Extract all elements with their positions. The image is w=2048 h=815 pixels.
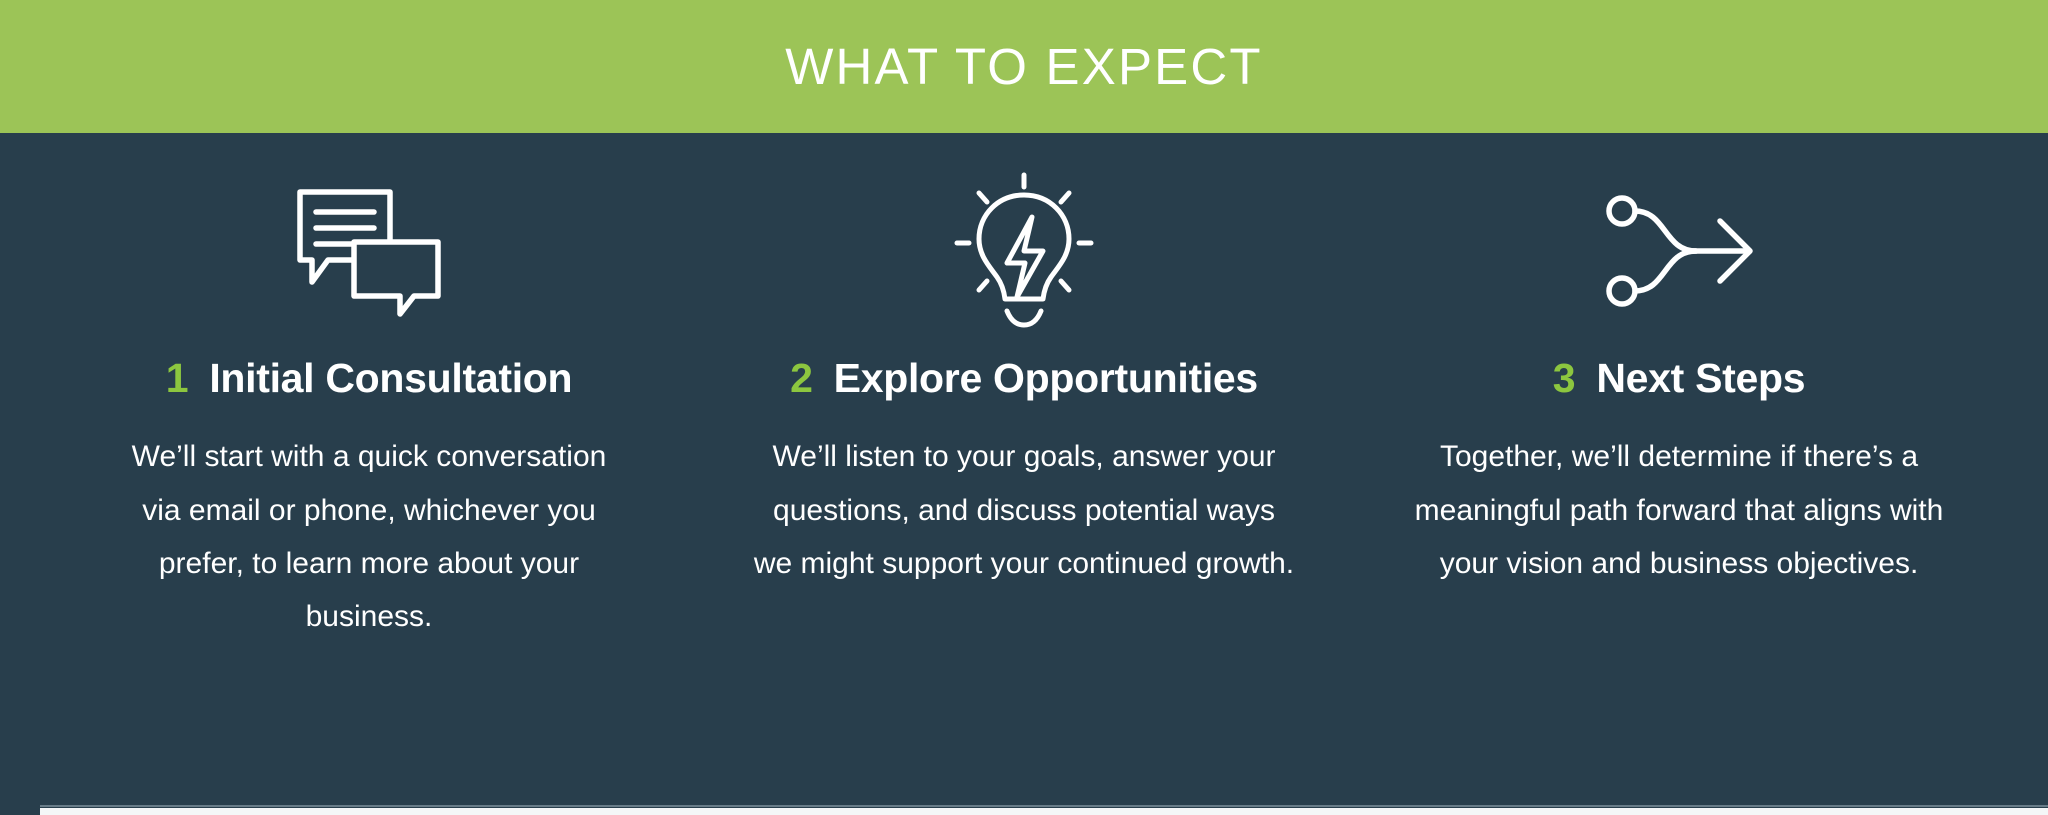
step-card-1: 1 Initial Consultation We’ll start with … [42,171,697,644]
step-heading-2: 2 Explore Opportunities [790,355,1258,402]
step-description-1: We’ll start with a quick conversation vi… [119,430,619,644]
what-to-expect-section: WHAT TO EXPECT 1 [0,0,2048,815]
step-card-2: 2 Explore Opportunities We’ll listen to … [697,171,1352,590]
section-header-band: WHAT TO EXPECT [0,0,2048,133]
step-title-2: Explore Opportunities [834,355,1258,401]
merge-path-arrow-icon [1604,171,1754,331]
step-title-1: Initial Consultation [209,355,572,401]
bottom-edge-strip [40,808,2048,815]
step-number-2: 2 [790,355,813,401]
step-number-1: 1 [166,355,189,401]
lightbulb-bolt-icon [949,171,1099,331]
step-title-3: Next Steps [1596,355,1805,401]
step-card-3: 3 Next Steps Together, we’ll determine i… [1352,171,2007,590]
steps-container: 1 Initial Consultation We’ll start with … [0,133,2048,815]
steps-row: 1 Initial Consultation We’ll start with … [0,133,2048,644]
step-number-3: 3 [1553,355,1576,401]
step-heading-3: 3 Next Steps [1553,355,1806,402]
step-description-3: Together, we’ll determine if there’s a m… [1409,430,1949,590]
step-heading-1: 1 Initial Consultation [166,355,573,402]
bottom-divider [40,805,2048,807]
speech-bubbles-icon [294,171,444,331]
section-title: WHAT TO EXPECT [785,41,1263,92]
step-description-2: We’ll listen to your goals, answer your … [752,430,1297,590]
